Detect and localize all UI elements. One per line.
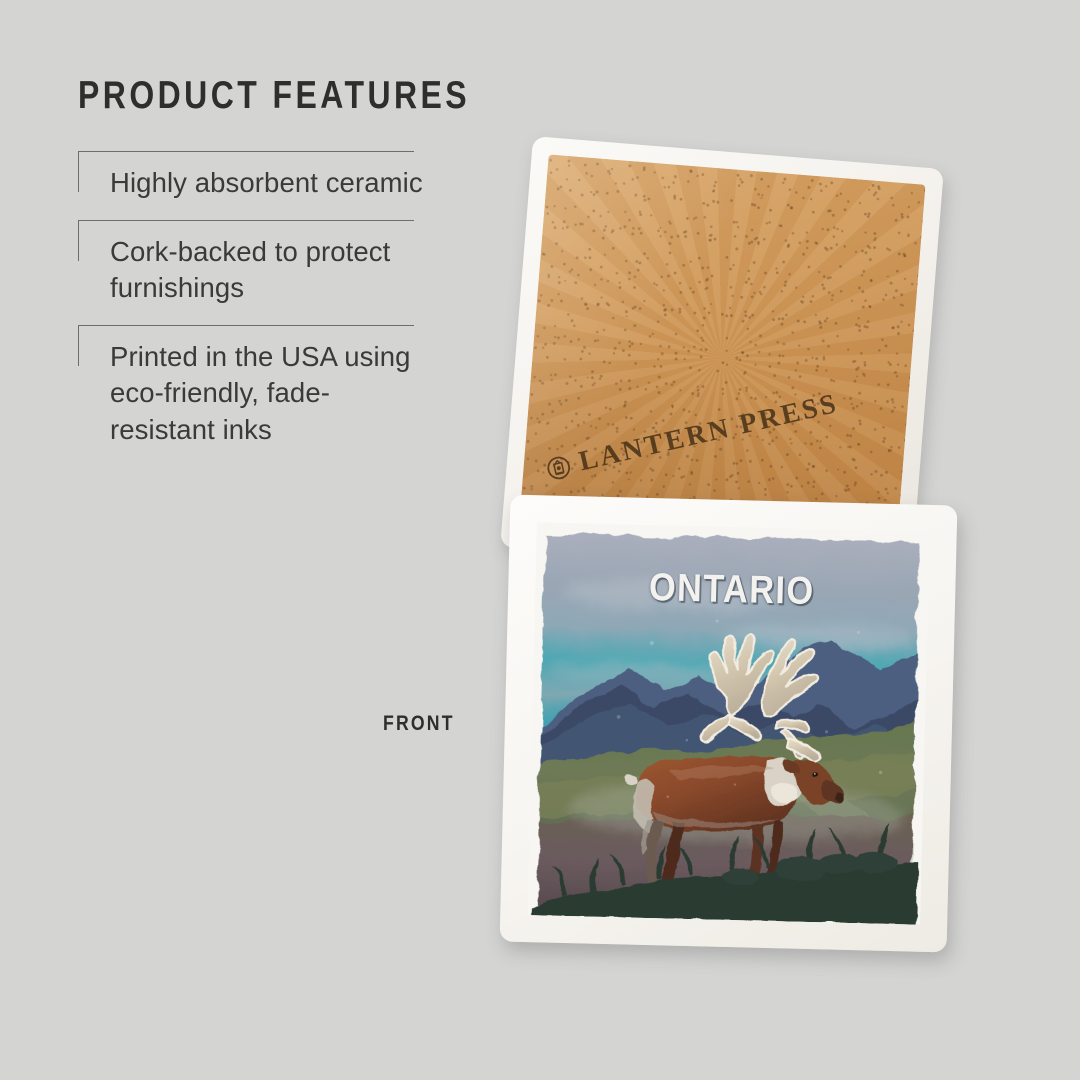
feature-text: Cork-backed to protect furnishings <box>110 236 390 304</box>
feature-text: Highly absorbent ceramic <box>110 167 423 198</box>
ontario-caribou-illustration <box>527 522 929 924</box>
product-feature-graphic: PRODUCT FEATURES Highly absorbent cerami… <box>0 0 1080 1080</box>
lantern-icon <box>543 452 573 482</box>
list-item: Cork-backed to protect furnishings <box>78 220 428 325</box>
feature-text: Printed in the USA using eco-friendly, f… <box>110 341 411 445</box>
coaster-artwork: ONTARIO <box>527 522 929 924</box>
list-item: Printed in the USA using eco-friendly, f… <box>78 325 428 467</box>
page-title: PRODUCT FEATURES <box>78 76 365 115</box>
coaster-front-view: ONTARIO <box>500 495 958 953</box>
feature-list: Highly absorbent ceramic Cork-backed to … <box>78 151 428 466</box>
product-features-panel: PRODUCT FEATURES Highly absorbent cerami… <box>78 76 428 466</box>
front-view-label: FRONT <box>383 712 455 736</box>
list-item: Highly absorbent ceramic <box>78 151 428 220</box>
